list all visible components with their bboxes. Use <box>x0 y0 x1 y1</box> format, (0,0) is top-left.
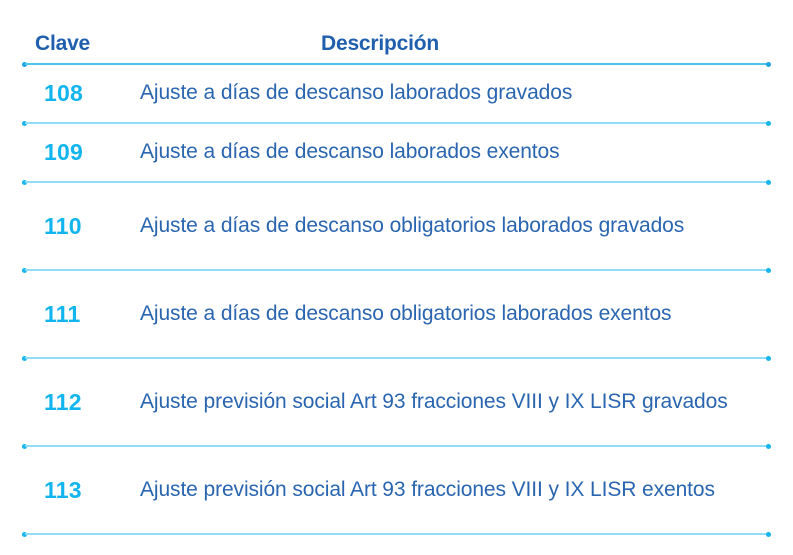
separator-line <box>25 269 768 271</box>
separator-line <box>25 63 768 65</box>
cell-clave: 110 <box>22 213 126 239</box>
cell-descripcion: Ajuste a días de descanso laborados grav… <box>126 78 771 108</box>
separator-line <box>25 533 768 535</box>
cell-clave: 112 <box>22 389 126 415</box>
separator-dot-right <box>766 532 771 537</box>
cell-descripcion: Ajuste a días de descanso obligatorios l… <box>126 299 771 329</box>
clave-descripcion-table: Clave Descripción 108 Ajuste a días de d… <box>0 0 793 555</box>
separator-dot-right <box>766 444 771 449</box>
row-separator <box>22 268 771 271</box>
separator-line <box>25 181 768 183</box>
separator-dot-right <box>766 268 771 273</box>
row-separator-footer <box>22 532 771 535</box>
separator-line <box>25 122 768 124</box>
table-row[interactable]: 111 Ajuste a días de descanso obligatori… <box>0 271 793 356</box>
table-row[interactable]: 108 Ajuste a días de descanso laborados … <box>0 65 793 121</box>
table-body: 108 Ajuste a días de descanso laborados … <box>0 65 793 535</box>
row-separator <box>22 356 771 359</box>
row-separator <box>22 444 771 447</box>
cell-clave: 109 <box>22 139 126 165</box>
cell-descripcion: Ajuste a días de descanso obligatorios l… <box>126 211 771 241</box>
separator-dot-right <box>766 62 771 67</box>
table-row[interactable]: 110 Ajuste a días de descanso obligatori… <box>0 183 793 268</box>
cell-descripcion: Ajuste previsión social Art 93 fraccione… <box>126 475 771 505</box>
cell-clave: 111 <box>22 301 126 327</box>
cell-clave: 113 <box>22 477 126 503</box>
column-header-descripcion: Descripción <box>126 32 771 56</box>
row-separator-header <box>22 62 771 65</box>
separator-dot-right <box>766 180 771 185</box>
table-row[interactable]: 109 Ajuste a días de descanso laborados … <box>0 124 793 180</box>
separator-dot-right <box>766 121 771 126</box>
table-row[interactable]: 112 Ajuste previsión social Art 93 fracc… <box>0 359 793 444</box>
cell-clave: 108 <box>22 80 126 106</box>
table-header-row: Clave Descripción <box>0 0 793 62</box>
cell-descripcion: Ajuste previsión social Art 93 fraccione… <box>126 387 771 417</box>
row-separator <box>22 121 771 124</box>
table-row[interactable]: 113 Ajuste previsión social Art 93 fracc… <box>0 447 793 532</box>
column-header-clave: Clave <box>22 32 126 56</box>
separator-line <box>25 445 768 447</box>
separator-line <box>25 357 768 359</box>
cell-descripcion: Ajuste a días de descanso laborados exen… <box>126 137 771 167</box>
row-separator <box>22 180 771 183</box>
separator-dot-right <box>766 356 771 361</box>
